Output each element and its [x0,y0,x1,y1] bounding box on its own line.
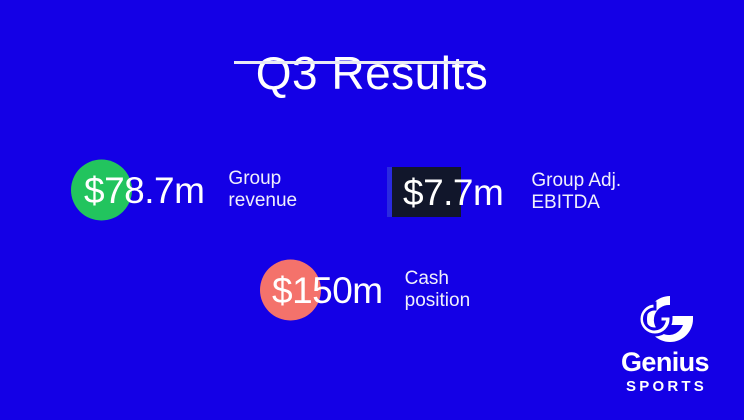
slide-title-block: Q3 Results [0,50,744,96]
metric-label-group-adj-ebitda: Group Adj. EBITDA [531,170,621,215]
metric-value-group-revenue: $78.7m [84,172,204,209]
metric-label-line1: Group [228,168,297,190]
metric-badge-group-adj-ebitda: $7.7m [387,161,503,223]
genius-g-monogram-icon [634,293,696,345]
logo-subword: SPORTS [605,379,725,394]
metric-label-line2: position [405,290,471,312]
metric-badge-group-revenue: $78.7m [71,159,204,221]
metric-cash-position: $150m Cash position [260,259,470,321]
metric-value-group-adj-ebitda: $7.7m [403,174,503,211]
metric-group-adj-ebitda: $7.7m Group Adj. EBITDA [387,161,621,223]
logo-wordmark: Genius [605,349,725,376]
metric-label-line2: revenue [228,190,297,212]
metric-badge-cash-position: $150m [260,259,383,321]
metric-group-revenue: $78.7m Group revenue [71,159,297,221]
metric-label-group-revenue: Group revenue [228,168,297,213]
metric-label-cash-position: Cash position [405,268,471,313]
metric-label-line1: Cash [405,268,471,290]
metric-label-line1: Group Adj. [531,170,621,192]
page-title: Q3 Results [0,50,744,96]
title-underline-rule [234,61,478,64]
brand-logo: Genius SPORTS [605,293,725,394]
presentation-slide: Q3 Results $78.7m Group revenue $7.7m Gr… [0,0,744,420]
metric-value-cash-position: $150m [272,272,383,309]
metric-label-line2: EBITDA [531,192,621,214]
